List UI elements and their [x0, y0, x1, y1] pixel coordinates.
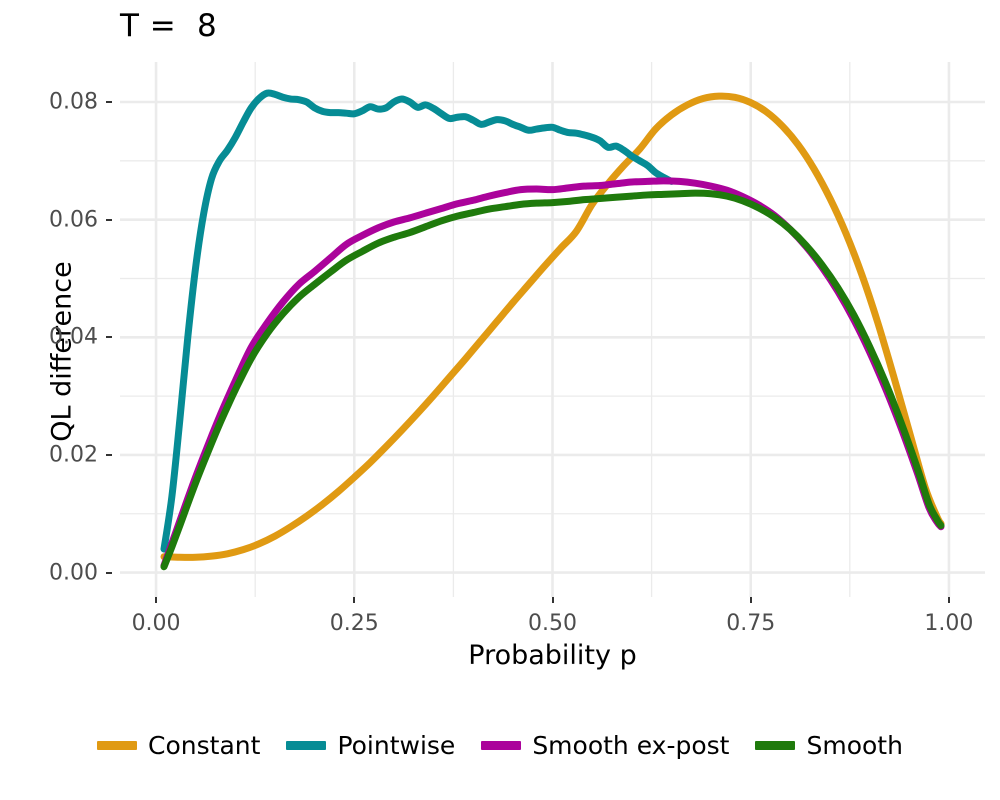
y-tick-label: 0.06: [0, 207, 98, 232]
y-tick-mark: [106, 219, 112, 221]
x-tick-mark: [353, 597, 355, 603]
page-title: T = 8: [120, 8, 217, 44]
y-tick-label: 0.08: [0, 90, 98, 115]
legend-item-constant[interactable]: Constant: [97, 731, 260, 760]
y-tick-mark: [106, 572, 112, 574]
chart-legend: ConstantPointwiseSmooth ex-postSmooth: [0, 718, 1000, 772]
x-tick-mark: [750, 597, 752, 603]
y-tick-mark: [106, 336, 112, 338]
x-tick-label: 0.25: [294, 611, 414, 636]
x-tick-label: 1.00: [889, 611, 1000, 636]
y-tick-label: 0.04: [0, 325, 98, 350]
legend-label: Constant: [148, 731, 260, 760]
x-tick-label: 0.00: [96, 611, 216, 636]
y-tick-mark: [106, 101, 112, 103]
legend-label: Smooth: [806, 731, 902, 760]
x-axis-title: Probability p: [120, 640, 985, 671]
legend-item-smooth[interactable]: Smooth: [755, 731, 902, 760]
x-tick-mark: [552, 597, 554, 603]
x-tick-label: 0.50: [493, 611, 613, 636]
y-axis-ticks: 0.000.020.040.060.08: [0, 62, 112, 597]
legend-item-smooth-ex-post[interactable]: Smooth ex-post: [481, 731, 729, 760]
y-tick-label: 0.00: [0, 560, 98, 585]
plot-canvas: [120, 62, 985, 597]
legend-key-swatch: [286, 741, 326, 750]
x-tick-mark: [948, 597, 950, 603]
x-tick-mark: [155, 597, 157, 603]
legend-item-pointwise[interactable]: Pointwise: [286, 731, 455, 760]
x-tick-label: 0.75: [691, 611, 811, 636]
legend-key-swatch: [97, 741, 137, 750]
legend-key-swatch: [755, 741, 795, 750]
plot-panel: [120, 62, 985, 597]
y-tick-mark: [106, 454, 112, 456]
legend-label: Smooth ex-post: [532, 731, 729, 760]
legend-label: Pointwise: [337, 731, 455, 760]
y-tick-label: 0.02: [0, 442, 98, 467]
chart-figure: T = 8 QL difference 0.000.020.040.060.08…: [0, 0, 1000, 800]
legend-key-swatch: [481, 741, 521, 750]
x-axis-ticks: 0.000.250.500.751.00: [120, 597, 985, 641]
